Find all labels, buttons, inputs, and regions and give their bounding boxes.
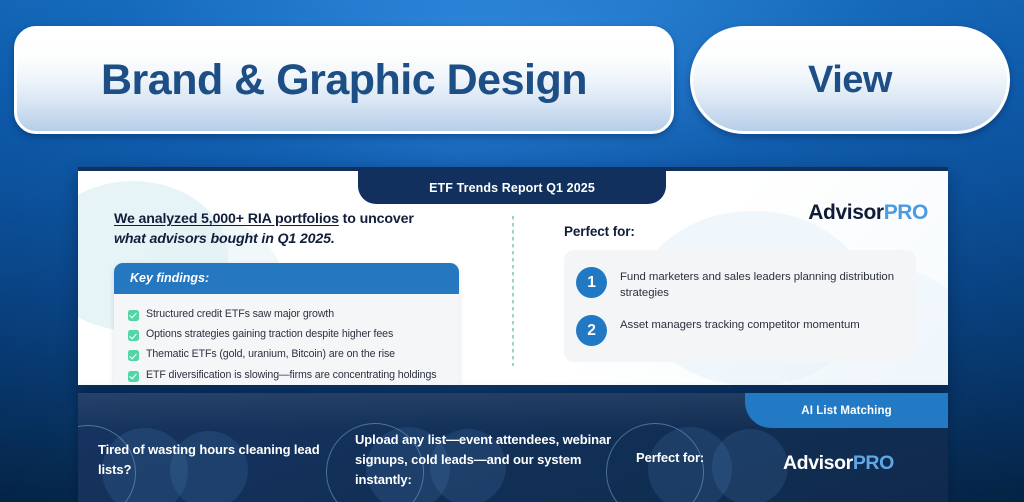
perfect-item-text: Asset managers tracking competitor momen… (620, 315, 860, 333)
finding-text: Thematic ETFs (gold, uranium, Bitcoin) a… (146, 348, 395, 361)
brand-graphic-design-title-button[interactable]: Brand & Graphic Design (14, 26, 674, 134)
report-tab-label: ETF Trends Report Q1 2025 (429, 181, 595, 195)
finding-text: Options strategies gaining traction desp… (146, 328, 393, 341)
perfect-for-list: 1 Fund marketers and sales leaders plann… (564, 250, 916, 362)
lead-rest-text: to uncover (339, 211, 414, 227)
logo-primary-text: Advisor (783, 452, 853, 474)
ai-tab-label: AI List Matching (801, 405, 891, 417)
check-icon (128, 350, 139, 361)
logo-accent-text: PRO (853, 452, 894, 474)
check-icon (128, 310, 139, 321)
logo-accent-text: PRO (884, 201, 928, 224)
finding-text: Structured credit ETFs saw major growth (146, 308, 334, 321)
list-item: 2 Asset managers tracking competitor mom… (576, 311, 902, 348)
advisorpro-logo: AdvisorPRO (808, 201, 928, 225)
logo-primary-text: Advisor (808, 201, 883, 224)
bottom-perfect-for-label: Perfect for: (636, 450, 796, 465)
lead-statement: We analyzed 5,000+ RIA portfolios to unc… (114, 209, 504, 249)
perfect-item-text: Fund marketers and sales leaders plannin… (620, 267, 902, 301)
check-icon (128, 371, 139, 382)
screenshot-root: Brand & Graphic Design View ETF Trends R… (0, 0, 1024, 502)
check-icon (128, 330, 139, 341)
number-badge-icon: 2 (576, 315, 607, 346)
left-panel: We analyzed 5,000+ RIA portfolios to unc… (114, 209, 504, 385)
key-findings-list: Structured credit ETFs saw major growth … (114, 294, 459, 385)
decorative-circle (712, 429, 788, 502)
report-tab[interactable]: ETF Trends Report Q1 2025 (358, 171, 666, 204)
bottom-text-block-1: Tired of wasting hours cleaning lead lis… (98, 440, 333, 480)
advisorpro-logo-bottom: AdvisorPRO (783, 452, 894, 475)
list-item: Options strategies gaining traction desp… (128, 325, 445, 345)
perfect-for-label: Perfect for: (564, 224, 934, 239)
lead-italic-text: what advisors bought in Q1 2025. (114, 231, 335, 247)
list-item: Structured credit ETFs saw major growth (128, 304, 445, 324)
view-button[interactable]: View (690, 26, 1010, 134)
list-item: ETF diversification is slowing—firms are… (128, 365, 445, 385)
title-button-label: Brand & Graphic Design (101, 56, 587, 105)
finding-text: ETF diversification is slowing—firms are… (146, 369, 436, 382)
list-item: 1 Fund marketers and sales leaders plann… (576, 263, 902, 311)
etf-report-card: ETF Trends Report Q1 2025 We analyzed 5,… (78, 167, 948, 385)
right-panel: AdvisorPRO Perfect for: 1 Fund marketers… (564, 201, 934, 362)
ai-list-matching-tab[interactable]: AI List Matching (745, 393, 948, 428)
dotted-divider (512, 216, 514, 366)
bottom-text-block-2: Upload any list—event attendees, webinar… (355, 430, 635, 489)
key-findings-box: Key findings: Structured credit ETFs saw… (114, 263, 459, 385)
number-badge-icon: 1 (576, 267, 607, 298)
view-button-label: View (808, 59, 892, 102)
key-findings-heading: Key findings: (114, 263, 459, 294)
lead-underlined-text: We analyzed 5,000+ RIA portfolios (114, 211, 339, 227)
list-item: Thematic ETFs (gold, uranium, Bitcoin) a… (128, 345, 445, 365)
